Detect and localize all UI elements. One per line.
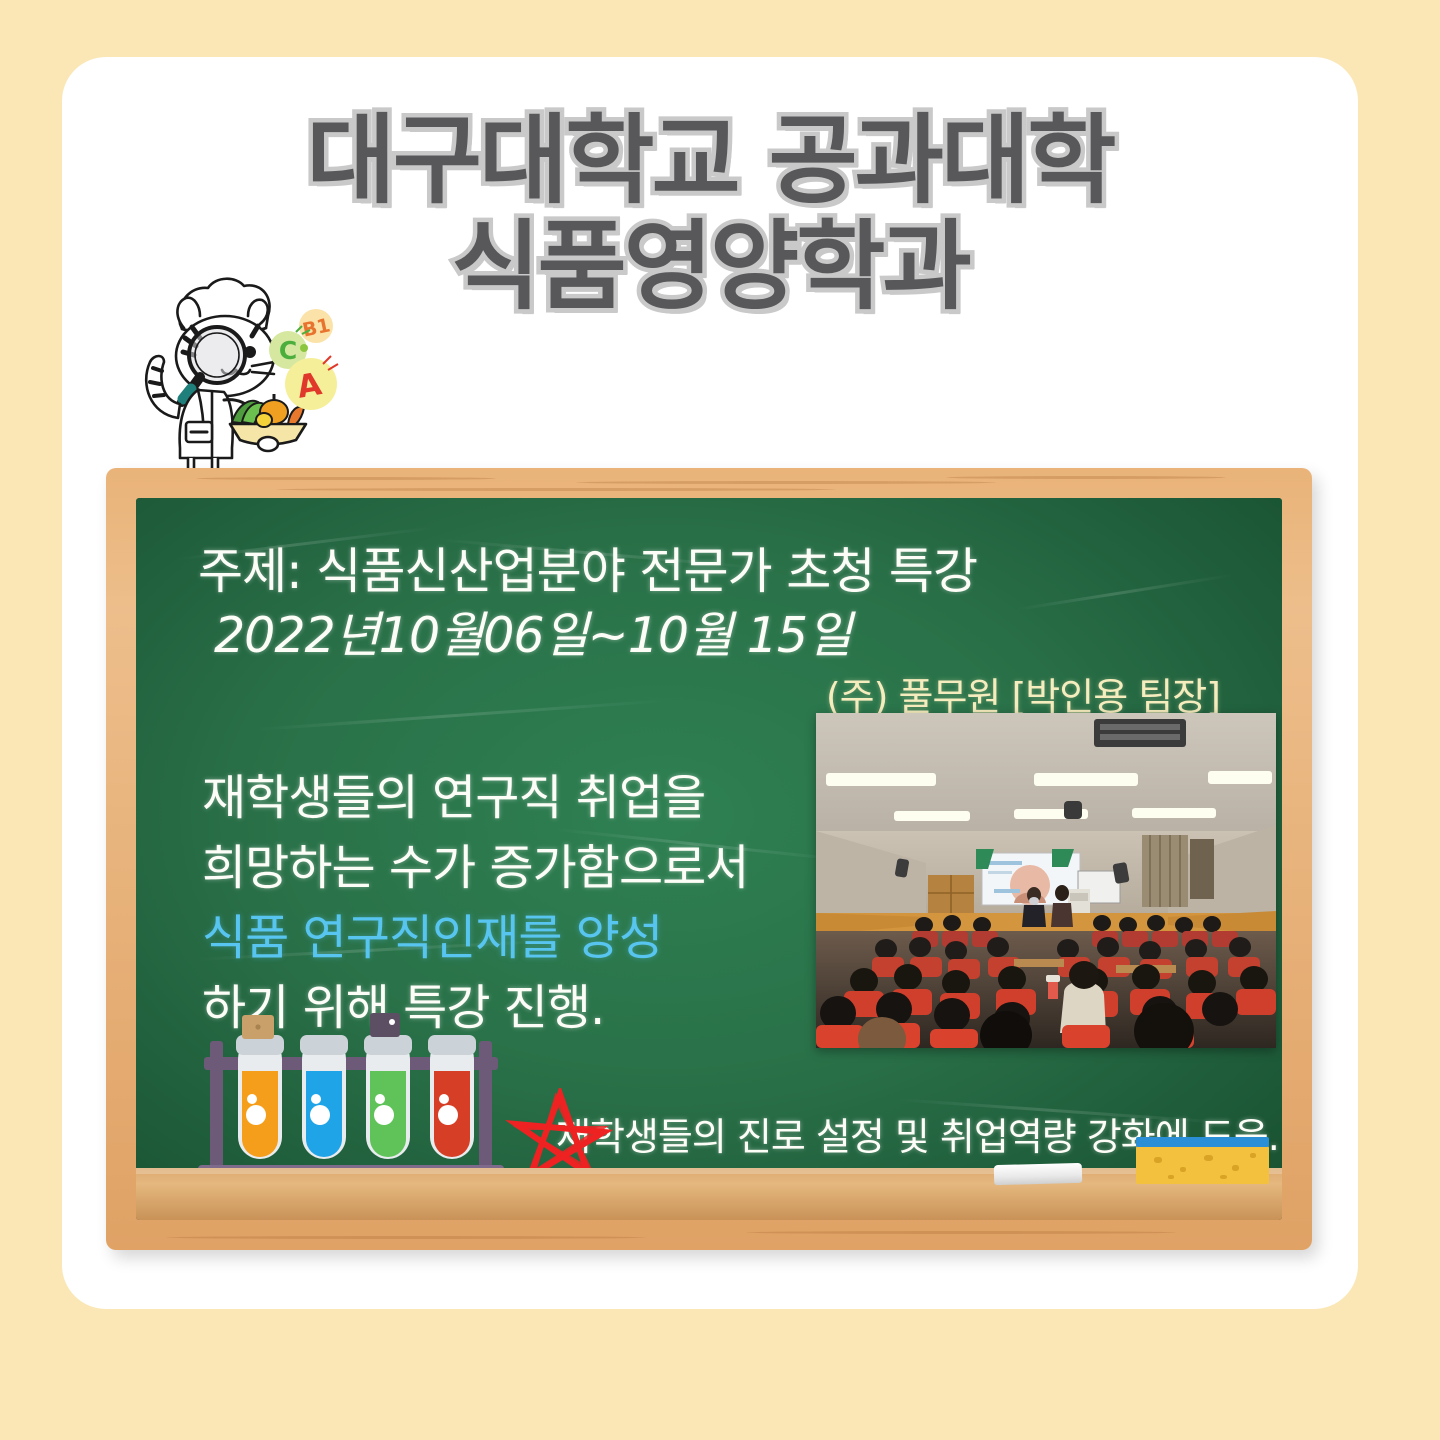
chalkboard-surface: 주제: 식품신산업분야 전문가 초청 특강 2022년10월06일~10월 15… bbox=[136, 498, 1282, 1220]
chalkboard: 주제: 식품신산업분야 전문가 초청 특강 2022년10월06일~10월 15… bbox=[106, 468, 1312, 1250]
sponge-eraser-icon bbox=[1136, 1137, 1269, 1184]
board-body-line-2: 희망하는 수가 증가함으로서 bbox=[202, 828, 748, 898]
board-body-line-3-highlight: 식품 연구직인재를 양성 bbox=[202, 898, 662, 968]
chalk-piece-icon bbox=[994, 1163, 1082, 1185]
lecture-photo bbox=[816, 713, 1276, 1048]
svg-text:C: C bbox=[279, 336, 297, 365]
chalkboard-frame-inner: 주제: 식품신산업분야 전문가 초청 특강 2022년10월06일~10월 15… bbox=[136, 498, 1282, 1220]
board-body-line-1: 재학생들의 연구직 취업을 bbox=[202, 758, 705, 828]
tiger-mascot-icon: B1 C A bbox=[128, 272, 368, 477]
chalk-ledge bbox=[136, 1168, 1282, 1220]
poster-root: 대구대학교 공과대학 식품영양학과 bbox=[0, 0, 1440, 1440]
board-date-line: 2022년10월06일~10월 15일 bbox=[214, 596, 851, 667]
board-topic-line: 주제: 식품신산업분야 전문가 초청 특강 bbox=[198, 532, 977, 603]
